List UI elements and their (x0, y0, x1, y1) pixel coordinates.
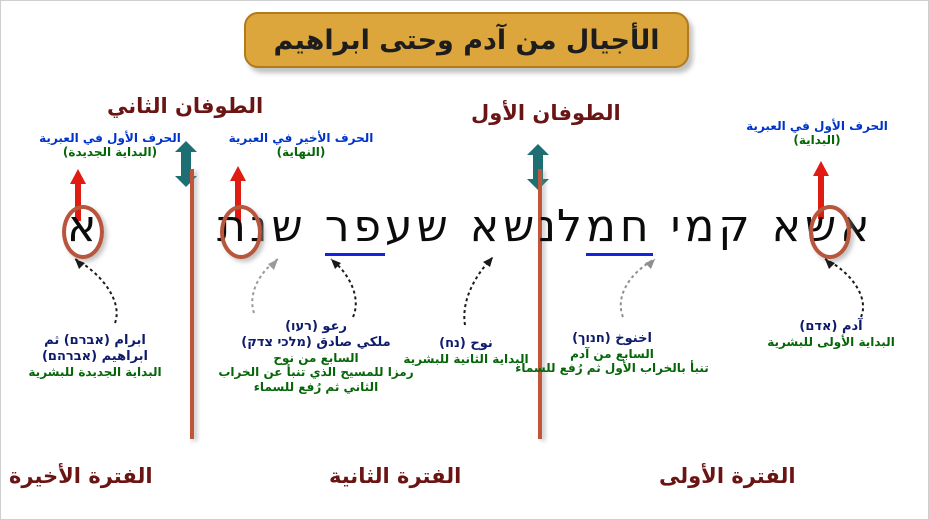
circled-letter-aleph-left (62, 205, 104, 259)
caption-desc-2: رمزا للمسيح الذي تنبأ عن الخراب (191, 365, 441, 380)
connector-noah (441, 249, 511, 333)
connector-abram (57, 251, 137, 333)
annotation-line-2: (البداية الجديدة) (19, 145, 201, 159)
caption-desc-1: البداية الأولى للبشرية (736, 335, 926, 350)
hebrew-segment-underlined: חמ (586, 201, 653, 256)
annotation-first-hebrew-letter-left: الحرف الأول في العبرية (البداية الجديدة) (19, 131, 201, 159)
connector-adam (791, 251, 881, 327)
annotation-line-1: الحرف الأول في العبرية (19, 131, 201, 145)
annotation-first-hebrew-letter-right: الحرف الأول في العبرية (البداية) (717, 119, 917, 147)
caption-name-2: ملكي صادق (מלכי צדק) (191, 335, 441, 351)
annotation-line-1: الحرف الأخير في العبرية (211, 131, 391, 145)
caption-name-2: ابراهيم (אברהם) (1, 349, 189, 365)
caption-name: آدم (אדם) (736, 319, 926, 335)
period-label-first: الفترة الأولى (659, 464, 796, 488)
annotation-line-2: (البداية) (717, 133, 917, 147)
header-second-flood: الطوفان الثاني (107, 94, 263, 118)
caption-reu-melchizedek: رعو (רעו) ملكي صادق (מלכי צדק) السابع من… (191, 319, 441, 395)
connector-reu (244, 253, 304, 323)
hebrew-segment-end: ל (557, 201, 586, 252)
hebrew-text-second-period: נשא שעפר שנת (217, 201, 560, 252)
title-box: الأجيال من آدم وحتى ابراهيم (244, 12, 689, 68)
caption-abram-abraham: ابرام (אברם) ثم ابراهيم (אברהם) البداية … (1, 333, 189, 379)
caption-adam: آدم (אדם) البداية الأولى للبشرية (736, 319, 926, 349)
circled-letter-aleph-right (809, 205, 851, 259)
period-label-second: الفترة الثانية (329, 464, 461, 488)
caption-name-1: ابرام (אברם) ثم (1, 333, 189, 349)
caption-desc-3: الثاني ثم رُفع للسماء (191, 380, 441, 395)
circled-letter-tav-middle (220, 205, 262, 259)
caption-desc-1: البداية الجديدة للبشرية (1, 365, 189, 380)
hebrew-segment-start: נשא שע (385, 201, 560, 252)
caption-name-1: رعو (רעו) (191, 319, 441, 335)
connector-melchizedek (301, 251, 381, 327)
title-banner: الأجيال من آدم وحتى ابراهيم (244, 12, 689, 68)
period-divider-left (190, 169, 194, 439)
caption-desc-1: السابع من نوح (191, 351, 441, 366)
period-label-last: الفترة الأخيرة (9, 464, 153, 488)
annotation-line-1: الحرف الأول في العبرية (717, 119, 917, 133)
hebrew-segment-underlined: פר (325, 201, 385, 256)
header-first-flood: الطوفان الأول (471, 101, 621, 125)
annotation-last-hebrew-letter: الحرف الأخير في العبرية (النهاية) (211, 131, 391, 159)
annotation-line-2: (النهاية) (211, 145, 391, 159)
page-title: الأجيال من آدم وحتى ابراهيم (273, 25, 659, 56)
connector-enoch (609, 251, 679, 327)
